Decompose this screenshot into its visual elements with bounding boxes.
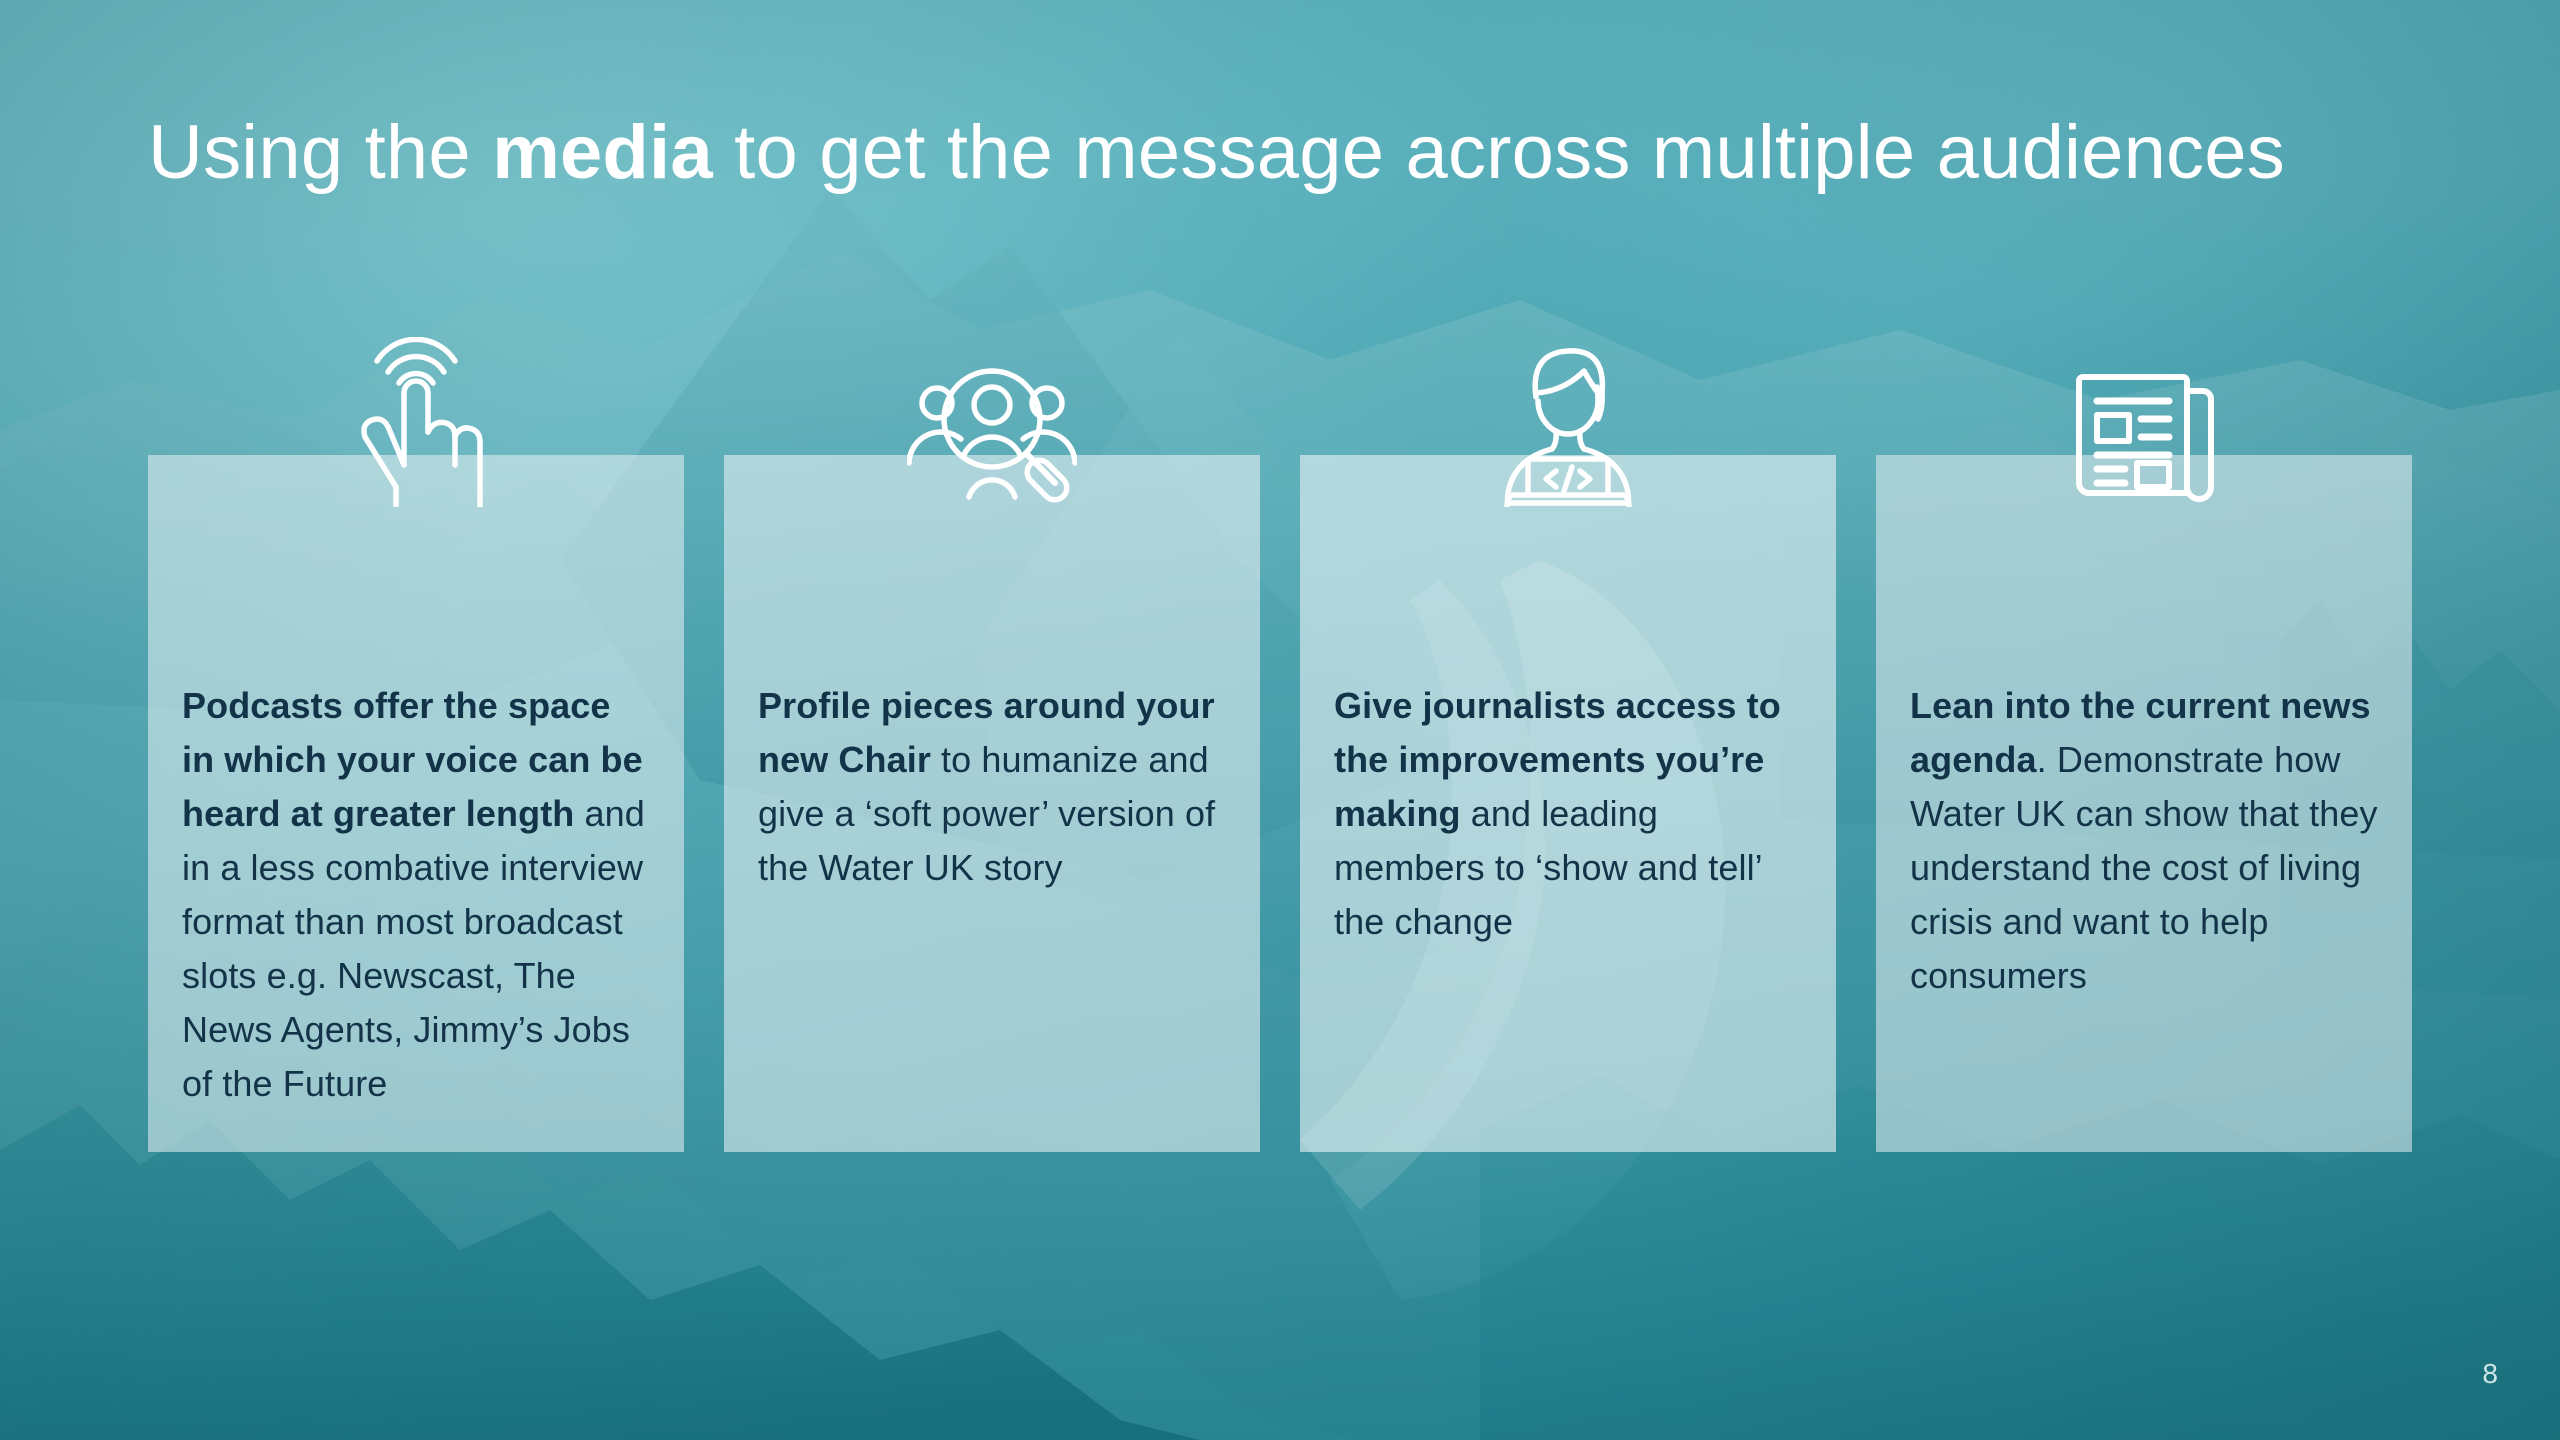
card-profile-pieces[interactable]: Profile pieces around your new Chair to …	[724, 455, 1260, 1152]
title-prefix: Using the	[148, 110, 492, 195]
title-emphasis: media	[492, 110, 713, 195]
person-search-icon	[907, 337, 1077, 507]
card-row: Podcasts offer the space in which your v…	[148, 455, 2412, 1152]
card-news-agenda[interactable]: Lean into the current news agenda. Demon…	[1876, 455, 2412, 1152]
card-text-news-agenda: Lean into the current news agenda. Demon…	[1876, 679, 2412, 1003]
newspaper-icon	[2059, 337, 2229, 507]
page-number: 8	[2482, 1358, 2498, 1390]
slide-title: Using the media to get the message acros…	[148, 108, 2448, 198]
tap-hand-icon	[331, 337, 501, 507]
card-journalist-access[interactable]: Give journalists access to the improveme…	[1300, 455, 1836, 1152]
presentation-slide: Using the media to get the message acros…	[0, 0, 2560, 1440]
card-podcasts[interactable]: Podcasts offer the space in which your v…	[148, 455, 684, 1152]
card-rest-text: and in a less combative interview format…	[182, 793, 645, 1104]
card-text-profile-pieces: Profile pieces around your new Chair to …	[724, 679, 1260, 895]
card-text-journalist-access: Give journalists access to the improveme…	[1300, 679, 1836, 949]
title-suffix: to get the message across multiple audie…	[713, 110, 2285, 195]
person-laptop-code-icon	[1483, 337, 1653, 507]
card-text-podcasts: Podcasts offer the space in which your v…	[148, 679, 684, 1111]
